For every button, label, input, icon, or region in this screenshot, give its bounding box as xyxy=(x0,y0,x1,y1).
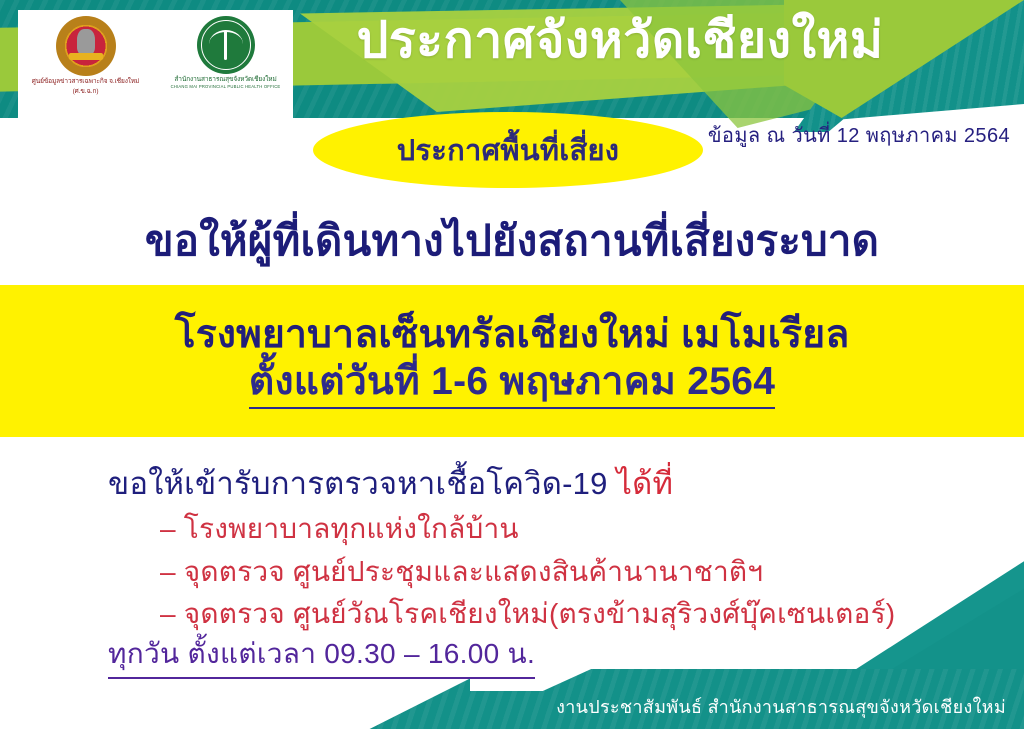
venue-name: โรงพยาบาลเซ็นทรัลเชียงใหม่ เมโมเรียล xyxy=(175,313,850,358)
thai-garuda-emblem-icon xyxy=(56,16,116,76)
list-item: – จุดตรวจ ศูนย์วัณโรคเชียงใหม่(ตรงข้ามสุ… xyxy=(160,593,960,636)
risk-area-badge: ประกาศพื้นที่เสี่ยง xyxy=(313,112,703,188)
logo-left-caption-line1: ศูนย์ข้อมูลข่าวสารเฉพาะกิจ จ.เชียงใหม่ xyxy=(32,78,139,86)
logo-right-caption-line1: สำนักงานสาธารณสุขจังหวัดเชียงใหม่ xyxy=(174,76,276,84)
list-item: – โรงพยาบาลทุกแห่งใกล้บ้าน xyxy=(160,508,960,551)
caduceus-rod-icon xyxy=(224,30,227,60)
footer-attribution: งานประชาสัมพันธ์ สำนักงานสาธารณสุขจังหวั… xyxy=(556,692,1006,721)
announcement-poster: ศูนย์ข้อมูลข่าวสารเฉพาะกิจ จ.เชียงใหม่ (… xyxy=(0,0,1024,729)
logo-block-right: สำนักงานสาธารณสุขจังหวัดเชียงใหม่ CHIANG… xyxy=(167,16,285,89)
main-headline: ขอให้ผู้ที่เดินทางไปยังสถานที่เสี่ยงระบา… xyxy=(0,208,1024,274)
page-title: ประกาศจังหวัดเชียงใหม่ xyxy=(300,14,940,67)
data-as-of-date: ข้อมูล ณ วันที่ 12 พฤษภาคม 2564 xyxy=(708,119,1010,151)
list-item: – จุดตรวจ ศูนย์ประชุมและแสดงสินค้านานาชา… xyxy=(160,551,960,594)
logo-left-caption-line2: (ศ.ข.ฉ.ก) xyxy=(73,88,99,96)
logo-right-caption-line2: CHIANG MAI PROVINCIAL PUBLIC HEALTH OFFI… xyxy=(171,84,281,89)
testing-locations-list: – โรงพยาบาลทุกแห่งใกล้บ้าน – จุดตรวจ ศูน… xyxy=(160,508,960,636)
logo-block-left: ศูนย์ข้อมูลข่าวสารเฉพาะกิจ จ.เชียงใหม่ (… xyxy=(27,16,145,96)
risk-area-badge-label: ประกาศพื้นที่เสี่ยง xyxy=(397,127,620,173)
testing-instruction: ขอให้เข้ารับการตรวจหาเชื้อโควิด-19 ได้ที… xyxy=(108,458,673,508)
testing-instruction-accent: ได้ที่ xyxy=(616,466,673,501)
testing-instruction-prefix: ขอให้เข้ารับการตรวจหาเชื้อโควิด-19 xyxy=(108,466,608,501)
venue-date-range: ตั้งแต่วันที่ 1-6 พฤษภาคม 2564 xyxy=(249,360,775,409)
logo-card: ศูนย์ข้อมูลข่าวสารเฉพาะกิจ จ.เชียงใหม่ (… xyxy=(18,10,293,120)
highlight-band: โรงพยาบาลเซ็นทรัลเชียงใหม่ เมโมเรียล ตั้… xyxy=(0,285,1024,437)
operating-hours: ทุกวัน ตั้งแต่เวลา 09.30 – 16.00 น. xyxy=(108,632,535,679)
ministry-of-public-health-emblem-icon xyxy=(197,16,255,74)
